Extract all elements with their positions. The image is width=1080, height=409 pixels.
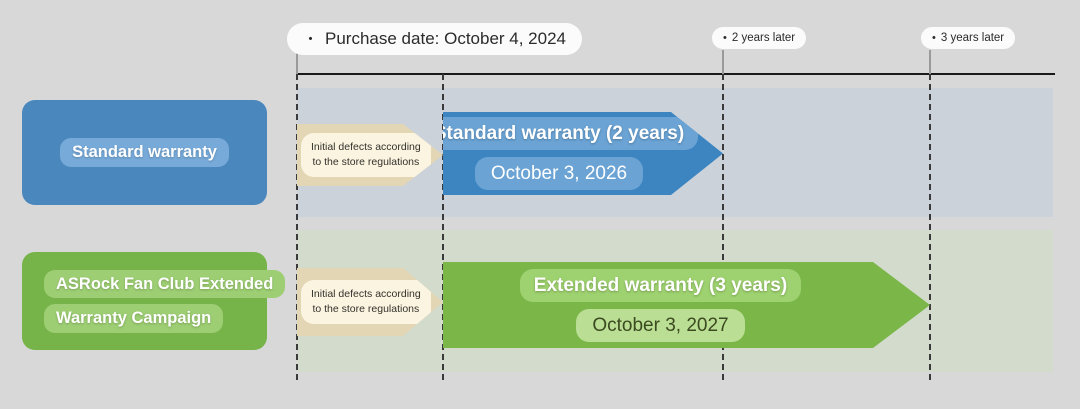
three-years-gridline-top <box>929 50 931 74</box>
standard-initial-defects-line1: Initial defects according <box>311 140 421 155</box>
extended-initial-defects-line2: to the store regulations <box>311 302 421 317</box>
three-years-later-pill: • 3 years later <box>921 27 1015 49</box>
standard-warranty-end-date: October 3, 2026 <box>475 157 643 190</box>
purchase-date-label: Purchase date: October 4, 2024 <box>325 29 566 49</box>
standard-initial-defects-label: Initial defects according to the store r… <box>301 133 431 177</box>
two-years-gridline-top <box>722 50 724 74</box>
bullet-icon: • <box>932 33 936 44</box>
three-years-later-label: 3 years later <box>941 32 1004 44</box>
extended-warranty-title: Extended warranty (3 years) <box>520 269 801 302</box>
standard-initial-defects-line2: to the store regulations <box>311 155 421 170</box>
standard-warranty-arrow: Standard warranty (2 years) October 3, 2… <box>443 112 723 195</box>
extended-initial-defects-line1: Initial defects according <box>311 287 421 302</box>
two-years-later-label: 2 years later <box>732 32 795 44</box>
standard-warranty-category-label: Standard warranty <box>60 138 229 167</box>
timeline-axis <box>297 73 1055 75</box>
purchase-date-pill: ・ Purchase date: October 4, 2024 <box>287 23 582 55</box>
two-years-later-pill: • 2 years later <box>712 27 806 49</box>
standard-warranty-title: Standard warranty (2 years) <box>420 117 698 150</box>
warranty-timeline-diagram: ・ Purchase date: October 4, 2024 • 2 yea… <box>0 0 1080 409</box>
bullet-icon: ・ <box>303 32 318 47</box>
three-years-gridline <box>929 74 931 380</box>
extended-warranty-category-box: ASRock Fan Club Extended Warranty Campai… <box>22 252 267 350</box>
standard-warranty-category-box: Standard warranty <box>22 100 267 205</box>
extended-warranty-arrow: Extended warranty (3 years) October 3, 2… <box>443 262 930 348</box>
extended-warranty-category-label-line2: Warranty Campaign <box>44 304 223 333</box>
bullet-icon: • <box>723 33 727 44</box>
extended-warranty-category-label-line1: ASRock Fan Club Extended <box>44 270 285 299</box>
extended-warranty-end-date: October 3, 2027 <box>576 309 744 342</box>
extended-initial-defects-label: Initial defects according to the store r… <box>301 280 431 324</box>
